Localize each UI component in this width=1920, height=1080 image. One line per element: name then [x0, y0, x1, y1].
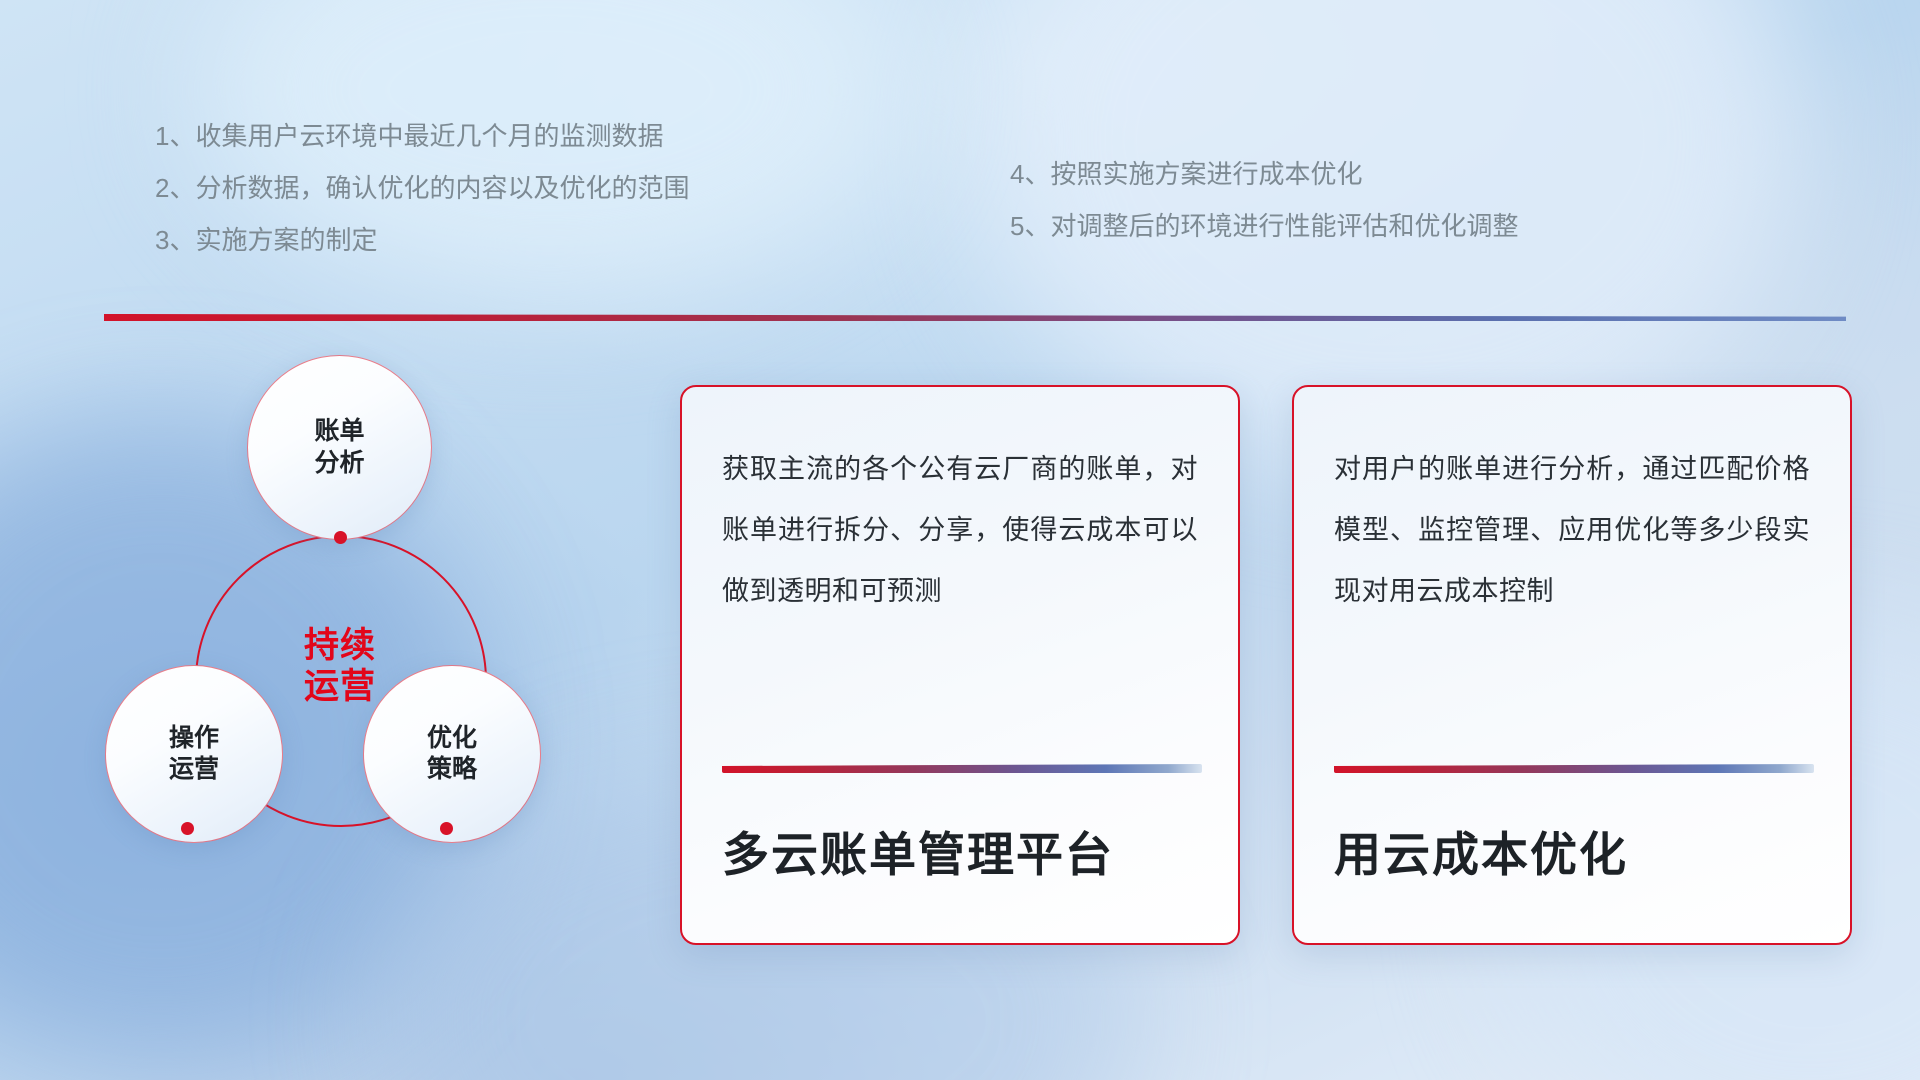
step-item: 5、对调整后的环境进行性能评估和优化调整 — [1010, 213, 1518, 239]
card-divider — [1334, 764, 1814, 773]
card-divider — [722, 764, 1202, 773]
slide-canvas: 1、收集用户云环境中最近几个月的监测数据 2、分析数据，确认优化的内容以及优化的… — [0, 0, 1920, 1080]
node-label-line2: 分析 — [314, 448, 364, 479]
feature-card-multicloud-billing[interactable]: 获取主流的各个公有云厂商的账单，对账单进行拆分、分享，使得云成本可以做到透明和可… — [680, 385, 1240, 945]
connector-dot-top — [334, 531, 347, 544]
step-item: 1、收集用户云环境中最近几个月的监测数据 — [155, 123, 689, 149]
step-item: 4、按照实施方案进行成本优化 — [1010, 161, 1518, 187]
card-body-text: 获取主流的各个公有云厂商的账单，对账单进行拆分、分享，使得云成本可以做到透明和可… — [722, 439, 1198, 621]
section-divider — [104, 314, 1846, 321]
card-divider-bar — [1334, 764, 1814, 773]
node-label-line2: 策略 — [427, 754, 477, 785]
card-divider-bar — [722, 764, 1202, 773]
node-label-line1: 优化 — [427, 723, 477, 754]
step-item: 2、分析数据，确认优化的内容以及优化的范围 — [155, 175, 689, 201]
center-label-line2: 运营 — [250, 666, 430, 707]
steps-right-column: 4、按照实施方案进行成本优化 5、对调整后的环境进行性能评估和优化调整 — [1010, 161, 1518, 239]
center-label-line1: 持续 — [250, 625, 430, 666]
feature-card-cost-optimization[interactable]: 对用户的账单进行分析，通过匹配价格模型、监控管理、应用优化等多少段实现对用云成本… — [1292, 385, 1852, 945]
card-body-text: 对用户的账单进行分析，通过匹配价格模型、监控管理、应用优化等多少段实现对用云成本… — [1334, 439, 1810, 621]
card-title: 用云成本优化 — [1334, 829, 1814, 881]
steps-left-column: 1、收集用户云环境中最近几个月的监测数据 2、分析数据，确认优化的内容以及优化的… — [155, 123, 689, 253]
connector-dot-right — [440, 822, 453, 835]
node-label-line1: 账单 — [314, 416, 364, 447]
step-item: 3、实施方案的制定 — [155, 227, 689, 253]
connector-dot-left — [181, 822, 194, 835]
cycle-diagram: 账单 分析 操作 运营 优化 策略 持续 运营 — [95, 355, 625, 955]
section-divider-bar — [104, 314, 1846, 321]
diagram-center-label: 持续 运营 — [250, 625, 430, 708]
diagram-node-bill-analysis[interactable]: 账单 分析 — [247, 355, 432, 540]
node-label-line2: 运营 — [169, 754, 219, 785]
node-label-line1: 操作 — [169, 723, 219, 754]
card-title: 多云账单管理平台 — [722, 829, 1202, 881]
